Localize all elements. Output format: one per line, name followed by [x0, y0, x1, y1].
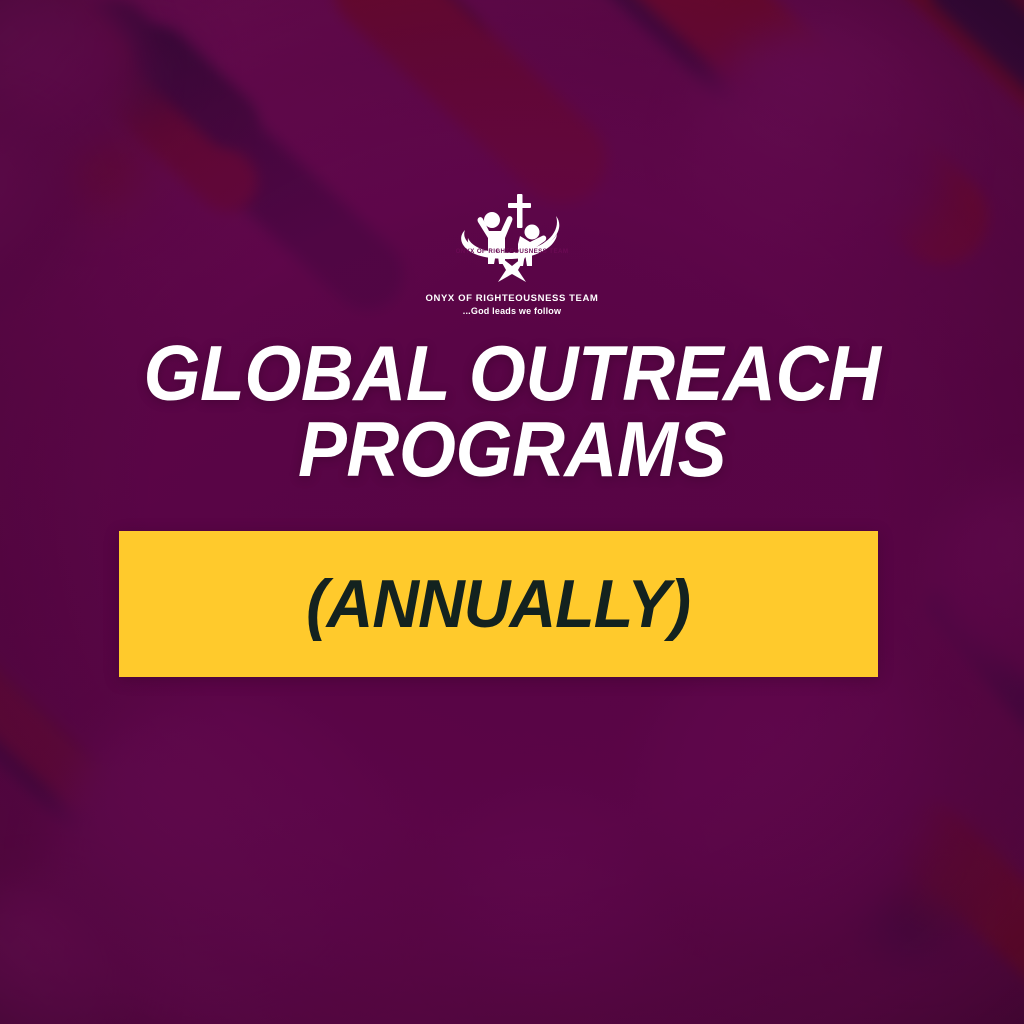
logo-tagline: ...God leads we follow	[463, 306, 561, 317]
poster-canvas: ONYX OF RIGHTEOUSNESS TEAM ONYX OF RIGHT…	[0, 0, 1024, 1024]
annually-banner: (ANNUALLY)	[119, 531, 878, 677]
logo-ribbon-text: ONYX OF RIGHTEOUSNESS TEAM	[456, 248, 568, 255]
annually-banner-label: (ANNUALLY)	[306, 570, 690, 638]
logo-block: ONYX OF RIGHTEOUSNESS TEAM ONYX OF RIGHT…	[0, 192, 1024, 317]
onyx-of-righteousness-team-emblem-icon: ONYX OF RIGHTEOUSNESS TEAM	[456, 192, 568, 284]
poster-content: ONYX OF RIGHTEOUSNESS TEAM ONYX OF RIGHT…	[0, 0, 1024, 1024]
page-title: GLOBAL OUTREACH PROGRAMS	[31, 336, 994, 487]
logo-org-name: ONYX OF RIGHTEOUSNESS TEAM	[426, 294, 599, 305]
